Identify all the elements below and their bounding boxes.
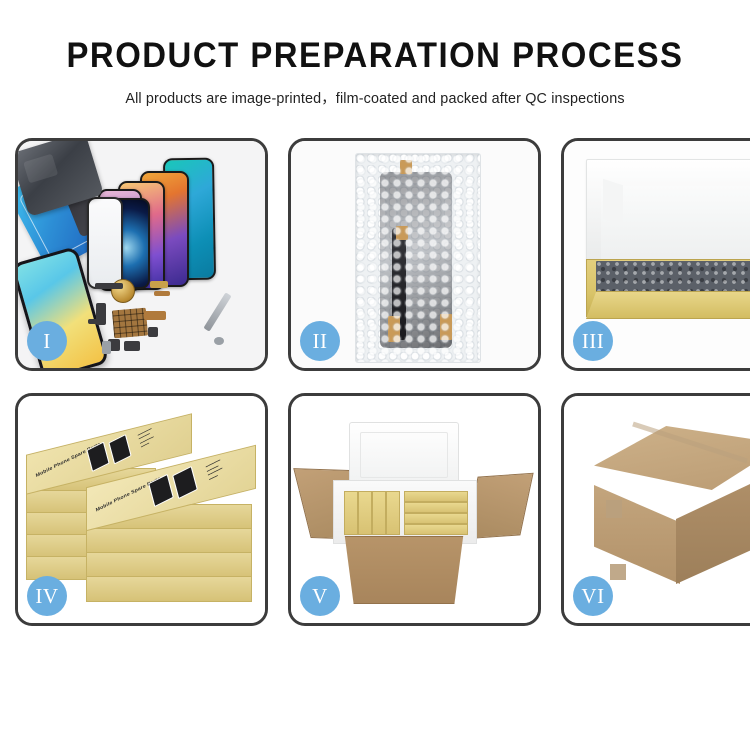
step-badge-5: V: [300, 576, 340, 616]
small-part-3: [154, 291, 170, 296]
retail-box-6: [404, 502, 468, 513]
retail-box-5: [404, 491, 468, 502]
retail-box-1: [344, 491, 358, 535]
white-foam-lid: [586, 159, 750, 271]
tape-piece-2: [396, 226, 408, 240]
step-badge-4: IV: [27, 576, 67, 616]
small-part-11: [88, 319, 106, 324]
step-badge-6: VI: [573, 576, 613, 616]
panel-step-2[interactable]: II: [288, 138, 541, 371]
page-subtitle: All products are image-printed，film-coat…: [4, 87, 747, 108]
tape-piece-1: [400, 160, 412, 174]
page-title: PRODUCT PREPARATION PROCESS: [23, 38, 728, 75]
box-label-phone-2: [108, 434, 131, 465]
panel-step-4[interactable]: Mobile Phone Spare Parts ▁▁▁▁▁▁▁▁▁▁▁▁▁▁▁…: [15, 393, 268, 626]
box-label-phone-4: [172, 466, 198, 499]
box-spec-lines-front: ▁▁▁▁▁▁▁▁▁▁▁▁▁▁▁▁▁: [205, 456, 224, 480]
retail-box-2: [358, 491, 372, 535]
bubble-wrap-bag: [355, 153, 481, 363]
step-badge-2: II: [300, 321, 340, 361]
retail-box-7: [404, 513, 468, 524]
screwdriver-tool: [203, 292, 231, 331]
box-spec-lines-back: ▁▁▁▁▁▁▁▁▁▁▁▁▁▁▁▁▁: [137, 425, 155, 448]
panel-step-5[interactable]: V: [288, 393, 541, 626]
carton-left-face: [594, 474, 680, 584]
process-panel-grid: I II III: [15, 138, 735, 683]
stacked-box-f3: [86, 552, 252, 578]
retail-box-3: [372, 491, 386, 535]
small-part-10: [214, 337, 224, 345]
stacked-box-f2: [86, 528, 252, 554]
carton-tape-bottom: [610, 564, 626, 580]
tape-piece-4: [440, 314, 452, 340]
retail-box-4: [386, 491, 400, 535]
chip-array-part: [112, 308, 148, 339]
small-part-8: [144, 311, 166, 320]
panel-step-1[interactable]: I: [15, 138, 268, 371]
grey-bubble-padding: [596, 261, 750, 293]
foam-box-lid: [349, 422, 459, 488]
panel-step-6[interactable]: VI: [561, 393, 750, 626]
kraft-box-front: [586, 291, 750, 319]
stacked-box-f4: [86, 576, 252, 602]
small-part-9: [148, 327, 158, 337]
carton-front-face: [341, 536, 467, 604]
small-part-2: [150, 281, 168, 288]
small-part-7: [124, 341, 140, 351]
foam-box-body: [333, 480, 477, 544]
step-badge-1: I: [27, 321, 67, 361]
page-header: PRODUCT PREPARATION PROCESS All products…: [0, 0, 750, 108]
step-badge-3: III: [573, 321, 613, 361]
small-part-6: [102, 341, 111, 354]
retail-box-8: [404, 524, 468, 535]
small-part-1: [95, 283, 123, 289]
lid-wing-left: [603, 179, 623, 225]
tape-piece-3: [388, 316, 400, 342]
carton-tape-top: [606, 500, 622, 518]
panel-step-3[interactable]: III: [561, 138, 750, 371]
tempered-glass-sheet: [87, 197, 123, 289]
